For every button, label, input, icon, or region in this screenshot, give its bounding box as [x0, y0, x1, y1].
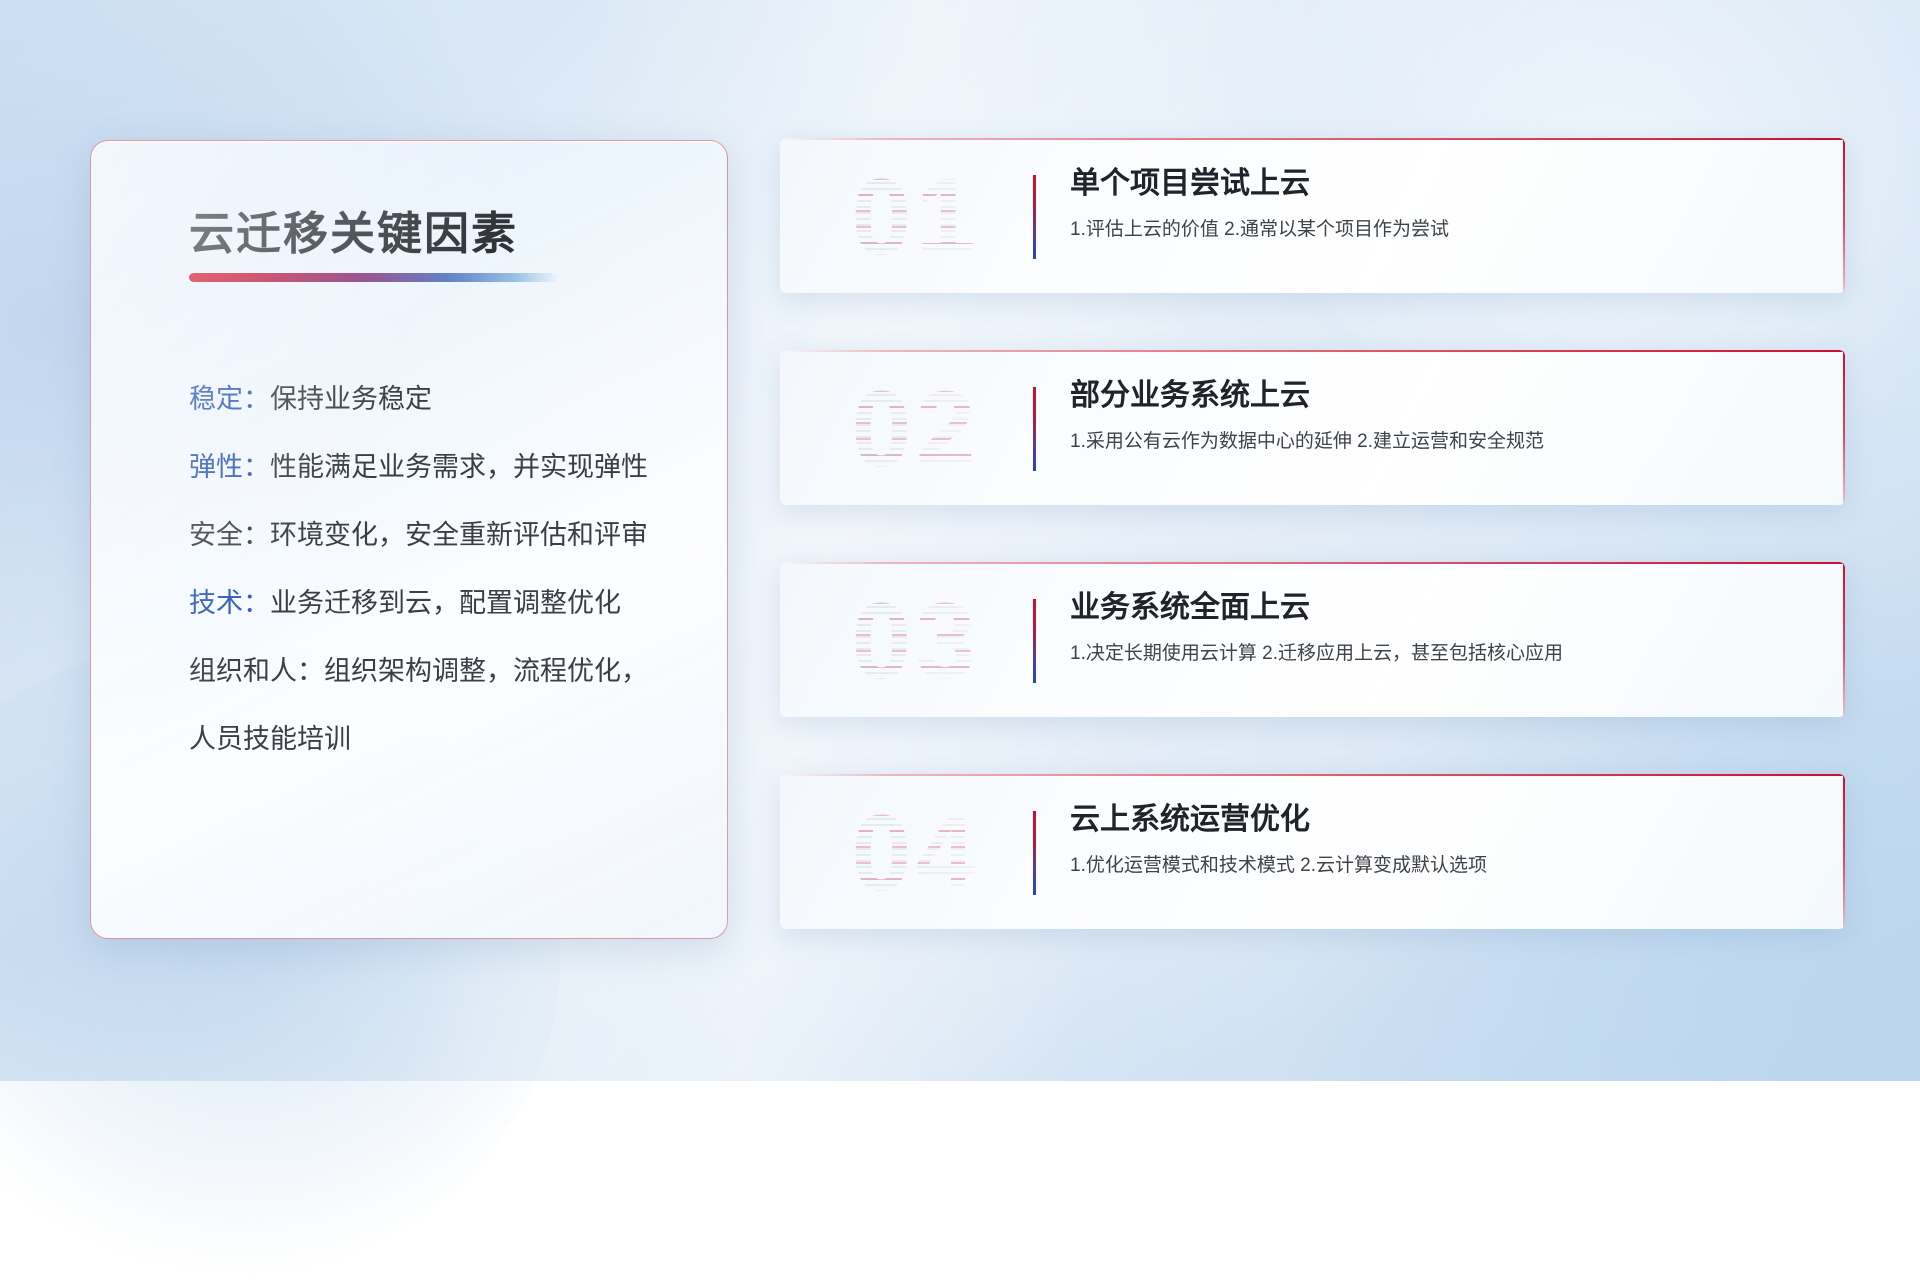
step-divider-gradient: [1033, 599, 1036, 683]
factor-label: 安全：: [189, 520, 270, 550]
step-body: 部分业务系统上云 1.采用公有云作为数据中心的延伸 2.建立运营和安全规范: [1070, 378, 1805, 455]
factor-item-stability: 稳定：保持业务稳定: [189, 386, 709, 413]
step-divider-gradient: [1033, 387, 1036, 471]
step-card-02[interactable]: 02 02 部分业务系统上云 1.采用公有云作为数据中心的延伸 2.建立运营和安…: [780, 350, 1845, 505]
step-body: 业务系统全面上云 1.决定长期使用云计算 2.迁移应用上云，甚至包括核心应用: [1070, 590, 1805, 667]
factor-text: 人员技能培训: [189, 724, 351, 754]
step-divider-gradient: [1033, 811, 1036, 895]
factor-item-organization-continued: 人员技能培训: [189, 726, 709, 753]
step-card-04[interactable]: 04 04 云上系统运营优化 1.优化运营模式和技术模式 2.云计算变成默认选项: [780, 774, 1845, 929]
factor-text: 组织架构调整，流程优化，: [324, 656, 648, 686]
factor-text: 业务迁移到云，配置调整优化: [270, 588, 621, 618]
factor-text: 性能满足业务需求，并实现弹性: [270, 452, 648, 482]
step-description: 1.评估上云的价值 2.通常以某个项目作为尝试: [1070, 218, 1805, 243]
step-title: 部分业务系统上云: [1070, 378, 1805, 414]
key-factors-panel: 云迁移关键因素 稳定：保持业务稳定 弹性：性能满足业务需求，并实现弹性 安全：环…: [90, 140, 728, 939]
key-factors-list: 稳定：保持业务稳定 弹性：性能满足业务需求，并实现弹性 安全：环境变化，安全重新…: [189, 386, 709, 753]
factor-label: 组织和人：: [189, 656, 324, 686]
factor-item-organization: 组织和人：组织架构调整，流程优化，: [189, 658, 709, 685]
step-number-ghost-tint-icon: 03: [808, 570, 1023, 710]
step-description: 1.决定长期使用云计算 2.迁移应用上云，甚至包括核心应用: [1070, 642, 1805, 667]
factor-label: 稳定：: [189, 384, 270, 414]
step-description: 1.优化运营模式和技术模式 2.云计算变成默认选项: [1070, 854, 1805, 879]
step-title: 业务系统全面上云: [1070, 590, 1805, 626]
factor-item-security: 安全：环境变化，安全重新评估和评审: [189, 522, 709, 549]
migration-steps-list: 01 01 单个项目尝试上云 1.评估上云的价值 2.通常以某个项目作为尝试 0…: [780, 138, 1845, 986]
step-description: 1.采用公有云作为数据中心的延伸 2.建立运营和安全规范: [1070, 430, 1805, 455]
factor-item-elasticity: 弹性：性能满足业务需求，并实现弹性: [189, 454, 709, 481]
factor-label: 技术：: [189, 588, 270, 618]
factor-item-technology: 技术：业务迁移到云，配置调整优化: [189, 590, 709, 617]
step-title: 云上系统运营优化: [1070, 802, 1805, 838]
step-number-ghost-tint-icon: 01: [808, 146, 1023, 286]
title-underline-gradient: [189, 273, 559, 282]
panel-title: 云迁移关键因素: [189, 197, 518, 262]
step-card-03[interactable]: 03 03 业务系统全面上云 1.决定长期使用云计算 2.迁移应用上云，甚至包括…: [780, 562, 1845, 717]
step-body: 单个项目尝试上云 1.评估上云的价值 2.通常以某个项目作为尝试: [1070, 166, 1805, 243]
step-number-ghost-tint-icon: 04: [808, 782, 1023, 922]
factor-label: 弹性：: [189, 452, 270, 482]
step-card-01[interactable]: 01 01 单个项目尝试上云 1.评估上云的价值 2.通常以某个项目作为尝试: [780, 138, 1845, 293]
factor-text: 环境变化，安全重新评估和评审: [270, 520, 648, 550]
step-number-ghost-tint-icon: 02: [808, 358, 1023, 498]
step-divider-gradient: [1033, 175, 1036, 259]
step-body: 云上系统运营优化 1.优化运营模式和技术模式 2.云计算变成默认选项: [1070, 802, 1805, 879]
step-title: 单个项目尝试上云: [1070, 166, 1805, 202]
factor-text: 保持业务稳定: [270, 384, 432, 414]
